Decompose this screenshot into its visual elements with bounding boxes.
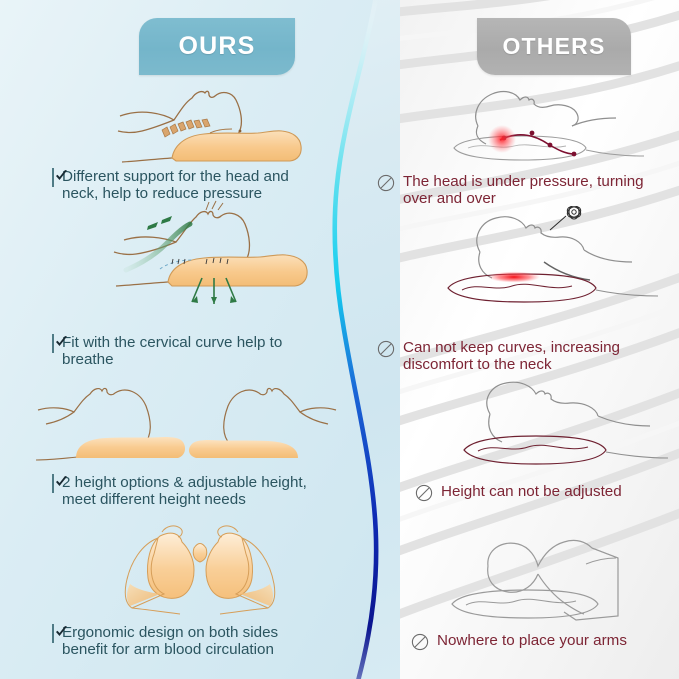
illustration-flat-pillow-pressure-point [444, 86, 664, 170]
bullet-cervical-curve: Fit with the cervical curve help to brea… [52, 334, 327, 369]
badge-ours: OURS [139, 18, 295, 75]
illustration-two-height-pillow-pair [22, 382, 352, 468]
checkbox-checked-icon [52, 475, 54, 493]
prohibited-icon [377, 340, 395, 363]
illustration-side-sleeper-contour-pillow [112, 84, 317, 174]
illustration-flat-pillow-outline [450, 380, 670, 470]
prohibited-icon [411, 633, 429, 656]
illustration-snoring-head-flat-pillow [432, 206, 662, 318]
prohibited-icon [377, 174, 395, 197]
bullet-different-support: Different support for the head and neck,… [52, 168, 327, 203]
bullet-height-not-adjusted: Height can not be adjusted [415, 483, 665, 507]
checkbox-checked-icon [52, 169, 54, 187]
illustration-contour-pillow-3d-outline [446, 532, 672, 628]
badge-others: OTHERS [477, 18, 631, 75]
bullet-text: Nowhere to place your arms [437, 632, 627, 649]
bullet-text: The head is under pressure, turning over… [403, 173, 644, 208]
badge-ours-label: OURS [178, 32, 255, 61]
bullet-no-arm-space: Nowhere to place your arms [411, 632, 661, 656]
bullet-no-curves: Can not keep curves, increasing discomfo… [377, 339, 652, 374]
bullet-text: Can not keep curves, increasing discomfo… [403, 339, 620, 374]
badge-others-label: OTHERS [502, 33, 605, 60]
comparison-infographic: OURS OTHERS [0, 0, 679, 679]
bullet-text: 2 height options & adjustable height, me… [62, 474, 307, 509]
checkbox-checked-icon [52, 625, 54, 643]
bullet-ergonomic-design: Ergonomic design on both sides benefit f… [52, 624, 332, 659]
bullet-text: Ergonomic design on both sides benefit f… [62, 624, 278, 659]
bullet-text: Fit with the cervical curve help to brea… [62, 334, 282, 369]
bullet-height-options: 2 height options & adjustable height, me… [52, 474, 344, 509]
bullet-text: Different support for the head and neck,… [62, 168, 289, 203]
prohibited-icon [415, 484, 433, 507]
illustration-butterfly-arm-pillow-topview [102, 522, 298, 624]
bullet-text: Height can not be adjusted [441, 483, 622, 500]
illustration-airflow-breathing-pillow [110, 198, 325, 316]
bullet-head-under-pressure: The head is under pressure, turning over… [377, 173, 652, 208]
checkbox-checked-icon [52, 335, 54, 353]
